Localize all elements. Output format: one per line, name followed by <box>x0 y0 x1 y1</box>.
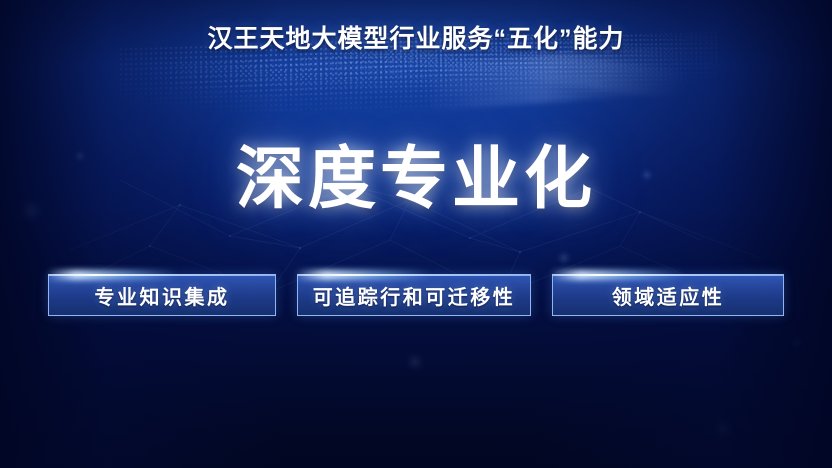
capability-pill-3-label: 领域适应性 <box>612 281 725 310</box>
slide-header-title: 汉王天地大模型行业服务“五化”能力 <box>0 19 832 55</box>
capability-pill-2[interactable]: 可追踪行和可迁移性 <box>297 274 531 316</box>
capability-pill-1[interactable]: 专业知识集成 <box>48 274 276 316</box>
background-edge-vignette <box>0 0 832 468</box>
capability-pill-1-label: 专业知识集成 <box>95 281 230 310</box>
capability-pill-row: 专业知识集成 可追踪行和可迁移性 领域适应性 <box>48 274 784 316</box>
slide-headline: 深度专业化 <box>0 140 832 218</box>
capability-pill-2-label: 可追踪行和可迁移性 <box>313 281 516 310</box>
capability-pill-3[interactable]: 领域适应性 <box>552 274 784 316</box>
presentation-slide: 汉王天地大模型行业服务“五化”能力 深度专业化 专业知识集成 可追踪行和可迁移性… <box>0 0 832 468</box>
